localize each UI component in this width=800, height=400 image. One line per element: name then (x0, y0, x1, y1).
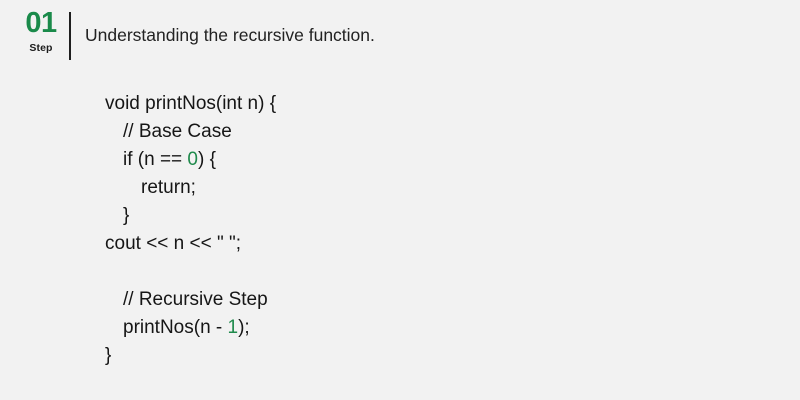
code-token-text: ) { (198, 149, 216, 170)
code-token-text: if (n == (123, 149, 187, 170)
code-block: void printNos(int n) {// Base Caseif (n … (105, 90, 276, 370)
code-token-comment: // Recursive Step (123, 289, 268, 310)
code-token-text: ); (238, 317, 250, 338)
code-line: printNos(n - 1); (105, 314, 276, 342)
header-divider (69, 12, 71, 60)
page-title: Understanding the recursive function. (85, 25, 375, 46)
code-line-blank (105, 258, 276, 286)
code-line: if (n == 0) { (105, 146, 276, 174)
code-token-number: 0 (187, 149, 198, 170)
step-number: 01 (25, 9, 56, 37)
code-token-comment: // Base Case (123, 121, 232, 142)
code-token-text: cout << n << " "; (105, 233, 241, 254)
code-token-text: } (123, 205, 129, 226)
code-token-text: printNos(n - (123, 317, 228, 338)
code-line: return; (105, 174, 276, 202)
step-header: 01 Step Understanding the recursive func… (18, 9, 375, 60)
code-token-text: void printNos(int n) { (105, 93, 276, 114)
slide-canvas: 01 Step Understanding the recursive func… (0, 0, 800, 400)
code-line: cout << n << " "; (105, 230, 276, 258)
code-line: void printNos(int n) { (105, 90, 276, 118)
step-label: Step (29, 43, 52, 54)
code-line: // Recursive Step (105, 286, 276, 314)
code-line: } (105, 202, 276, 230)
code-token-number: 1 (228, 317, 239, 338)
code-token-text: return; (141, 177, 196, 198)
code-line: } (105, 342, 276, 370)
code-line: // Base Case (105, 118, 276, 146)
code-token-text: } (105, 345, 111, 366)
step-badge: 01 Step (18, 9, 64, 54)
